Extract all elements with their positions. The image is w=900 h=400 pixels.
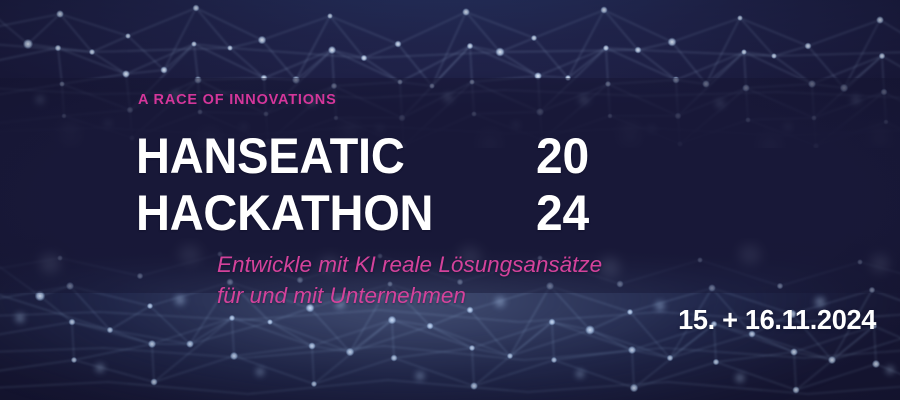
- title-word-hackathon: HACKATHON: [136, 185, 433, 242]
- subtitle-line-1: Entwickle mit KI reale Lösungsansätze: [217, 249, 602, 280]
- title-row-2: HACKATHON 24: [136, 185, 452, 242]
- hackathon-banner: A RACE OF INNOVATIONS HANSEATIC 20 HACKA…: [0, 0, 900, 400]
- title-word-hanseatic: HANSEATIC: [136, 128, 405, 185]
- event-date: 15. + 16.11.2024: [678, 303, 876, 337]
- subtitle-line-2: für und mit Unternehmen: [217, 280, 602, 311]
- subtitle: Entwickle mit KI reale Lösungsansätze fü…: [217, 249, 602, 311]
- banner-content: A RACE OF INNOVATIONS HANSEATIC 20 HACKA…: [0, 0, 900, 400]
- kicker-text: A RACE OF INNOVATIONS: [138, 93, 337, 108]
- title-row-1: HANSEATIC 20: [136, 128, 452, 185]
- title-year-20: 20: [536, 128, 589, 185]
- title-year-24: 24: [536, 185, 589, 242]
- event-title: HANSEATIC 20 HACKATHON 24: [136, 128, 452, 242]
